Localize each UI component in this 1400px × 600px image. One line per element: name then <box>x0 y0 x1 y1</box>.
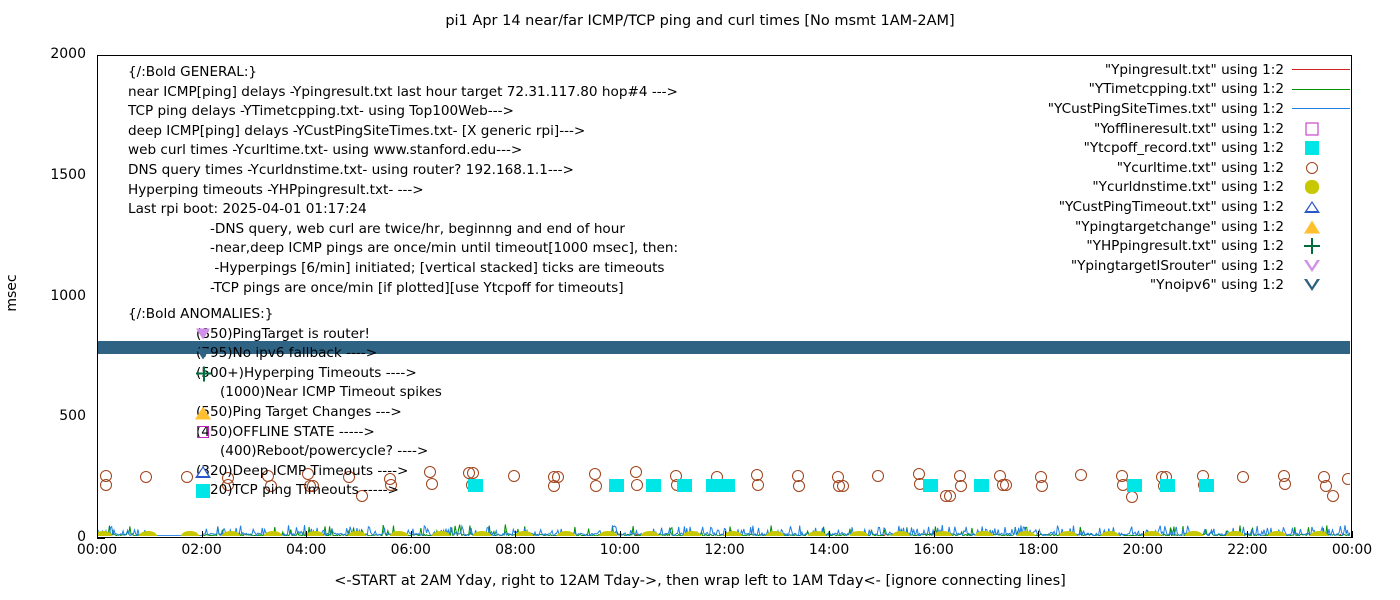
curl-time-marker <box>793 480 805 492</box>
legend-label: "Ypingtargetchange" using 1:2 <box>1075 219 1284 235</box>
x-tick-mark <box>1143 531 1144 538</box>
curl-time-marker <box>752 479 764 491</box>
annotation-line: -near,deep ICMP pings are once/min until… <box>128 239 678 259</box>
legend-key <box>1290 138 1352 158</box>
curl-time-marker <box>1342 473 1350 485</box>
x-tick-label: 10:00 <box>575 542 665 558</box>
legend-label: "Ytcpoff_record.txt" using 1:2 <box>1084 140 1284 156</box>
circ-brown-icon <box>1306 162 1318 174</box>
y-tick-label: 2000 <box>18 46 86 62</box>
legend-entry[interactable]: "YCustPingSiteTimes.txt" using 1:2 <box>960 99 1352 119</box>
x-tick-label: 04:00 <box>261 542 351 558</box>
legend-entry[interactable]: "Ycurltime.txt" using 1:2 <box>960 158 1352 178</box>
anomaly-text: (320)Deep ICMP Timeouts ----> <box>196 463 408 479</box>
y-tick-mark <box>97 538 105 539</box>
legend-label: "Yofflineresult.txt" using 1:2 <box>1094 121 1284 137</box>
y-tick-label: 1500 <box>18 167 86 183</box>
y-tick-label: 500 <box>18 408 86 424</box>
tcp-timeout-marker <box>974 479 989 492</box>
x-tick-label: 22:00 <box>1202 542 1292 558</box>
annotation-line: near ICMP[ping] delays -Ypingresult.txt … <box>128 83 678 103</box>
anomaly-line: (400)Reboot/powercycle? ----> <box>128 442 442 462</box>
legend-key <box>1290 80 1352 100</box>
legend-label: "YCustPingSiteTimes.txt" using 1:2 <box>1048 101 1284 117</box>
curl-time-marker <box>589 468 601 480</box>
annotation-anomalies: {/:Bold ANOMALIES:}(850)PingTarget is ro… <box>128 305 442 501</box>
legend-entry[interactable]: "Ypingtargetchange" using 1:2 <box>960 217 1352 237</box>
dtri-violet-icon <box>1304 260 1320 272</box>
legend-label: "Ypingresult.txt" using 1:2 <box>1105 62 1284 78</box>
dtri-violet-icon <box>196 329 210 340</box>
legend-key <box>1290 119 1352 139</box>
anomaly-text: (795)No ipv6 fallback ----> <box>196 345 377 361</box>
annotation-line: TCP ping delays -YTimetcpping.txt- using… <box>128 102 678 122</box>
dtri-teal-icon <box>196 348 210 359</box>
curl-time-marker <box>1036 480 1048 492</box>
legend-line-sample <box>1292 89 1350 90</box>
x-tick-label: 12:00 <box>680 542 770 558</box>
legend-entry[interactable]: "Ycurldnstime.txt" using 1:2 <box>960 178 1352 198</box>
plus-icon <box>1304 238 1320 254</box>
chart-title: pi1 Apr 14 near/far ICMP/TCP ping and cu… <box>0 13 1400 29</box>
legend-key <box>1290 197 1352 217</box>
dtri-teal-icon <box>1304 279 1320 291</box>
anomaly-line: (500+)Hyperping Timeouts ----> <box>128 364 442 384</box>
legend-label: "Ynoipv6" using 1:2 <box>1150 277 1284 293</box>
curl-time-marker <box>630 466 642 478</box>
curl-time-marker <box>872 470 884 482</box>
anomaly-text: (1000)Near ICMP Timeout spikes <box>220 384 442 400</box>
annotation-line: web curl times -Ycurltime.txt- using www… <box>128 141 678 161</box>
tcp-timeout-marker <box>609 479 624 492</box>
x-tick-label: 00:00 <box>52 542 142 558</box>
annotation-general-heading: {/:Bold GENERAL:} <box>128 63 678 83</box>
legend-entry[interactable]: "YCustPingTimeout.txt" using 1:2 <box>960 197 1352 217</box>
disc-olive-icon <box>1305 180 1319 194</box>
x-tick-mark <box>515 531 516 538</box>
anomaly-text: (450)OFFLINE STATE -----> <box>196 424 375 440</box>
annotation-line: deep ICMP[ping] delays -YCustPingSiteTim… <box>128 122 678 142</box>
x-tick-mark <box>934 531 935 538</box>
anomaly-line: (795)No ipv6 fallback ----> <box>128 344 442 364</box>
legend-label: "YCustPingTimeout.txt" using 1:2 <box>1059 199 1284 215</box>
x-axis-caption: <-START at 2AM Yday, right to 12AM Tday-… <box>0 573 1400 589</box>
curl-time-marker <box>508 470 520 482</box>
anomaly-text: (550)Ping Target Changes ---> <box>196 404 402 420</box>
sq-cyan-icon <box>196 484 210 498</box>
tcp-timeout-marker <box>1160 479 1175 492</box>
legend-entry[interactable]: "YHPpingresult.txt" using 1:2 <box>960 236 1352 256</box>
legend-key <box>1290 158 1352 178</box>
x-tick-label: 06:00 <box>366 542 456 558</box>
legend-entry[interactable]: "Yofflineresult.txt" using 1:2 <box>960 119 1352 139</box>
x-tick-mark <box>97 531 98 538</box>
x-tick-mark <box>1247 531 1248 538</box>
anomaly-text: (400)Reboot/powercycle? ----> <box>220 443 428 459</box>
legend: "Ypingresult.txt" using 1:2"YTimetcpping… <box>960 60 1352 295</box>
x-tick-mark <box>829 531 830 538</box>
curl-time-marker <box>631 479 643 491</box>
x-tick-mark <box>1038 531 1039 538</box>
tcp-timeout-marker <box>1127 479 1142 492</box>
x-tick-label: 18:00 <box>993 542 1083 558</box>
tcp-timeout-marker <box>646 479 661 492</box>
sq-cyan-icon <box>1305 141 1319 155</box>
utri-gold-icon <box>195 406 211 419</box>
annotation-line: Hyperping timeouts -YHPpingresult.txt- -… <box>128 181 678 201</box>
sq-magenta-icon <box>1306 122 1319 135</box>
curl-time-marker <box>548 480 560 492</box>
x-tick-label: 00:00 <box>1307 542 1397 558</box>
legend-key <box>1290 60 1352 80</box>
legend-key <box>1290 236 1352 256</box>
x-tick-label: 08:00 <box>470 542 560 558</box>
x-tick-mark <box>725 531 726 538</box>
annotation-anomalies-heading: {/:Bold ANOMALIES:} <box>128 305 442 325</box>
legend-entry[interactable]: "Ytcpoff_record.txt" using 1:2 <box>960 138 1352 158</box>
tcp-timeout-marker <box>923 479 938 492</box>
legend-label: "YTimetcpping.txt" using 1:2 <box>1089 81 1284 97</box>
x-tick-mark <box>306 531 307 538</box>
legend-key <box>1290 99 1352 119</box>
tcp-timeout-marker <box>677 479 692 492</box>
plus-icon <box>196 366 211 381</box>
x-tick-label: 20:00 <box>1098 542 1188 558</box>
annotation-line: DNS query times -Ycurldnstime.txt- using… <box>128 161 678 181</box>
anomaly-line: (220)TCP ping Timeouts -----> <box>128 481 442 501</box>
sq-magenta-icon <box>197 426 209 438</box>
x-tick-label: 02:00 <box>157 542 247 558</box>
legend-entry[interactable]: "Ynoipv6" using 1:2 <box>960 276 1352 296</box>
legend-key <box>1290 217 1352 237</box>
anomaly-line: (550)Ping Target Changes ---> <box>128 403 442 423</box>
legend-key <box>1290 276 1352 296</box>
legend-line-sample <box>1292 108 1350 109</box>
legend-label: "Ycurldnstime.txt" using 1:2 <box>1092 179 1284 195</box>
x-tick-label: 16:00 <box>889 542 979 558</box>
x-tick-mark <box>1352 531 1353 538</box>
x-tick-label: 14:00 <box>784 542 874 558</box>
annotation-line: -TCP pings are once/min [if plotted][use… <box>128 279 678 299</box>
tcp-timeout-marker <box>1199 479 1214 492</box>
anomaly-line: (320)Deep ICMP Timeouts ----> <box>128 462 442 482</box>
legend-key <box>1290 178 1352 198</box>
annotation-general: {/:Bold GENERAL:}near ICMP[ping] delays … <box>128 63 678 298</box>
legend-entry[interactable]: "Ypingresult.txt" using 1:2 <box>960 60 1352 80</box>
anomaly-text: (850)PingTarget is router! <box>196 326 370 342</box>
anomaly-text: (500+)Hyperping Timeouts ----> <box>196 365 417 381</box>
annotation-line: -DNS query, web curl are twice/hr, begin… <box>128 220 678 240</box>
x-tick-mark <box>411 531 412 538</box>
utri-blue-icon <box>1304 201 1320 213</box>
anomaly-line: (1000)Near ICMP Timeout spikes <box>128 383 442 403</box>
annotation-line: -Hyperpings [6/min] initiated; [vertical… <box>128 259 678 279</box>
anomaly-line: (450)OFFLINE STATE -----> <box>128 423 442 443</box>
curl-time-marker <box>837 480 849 492</box>
annotation-line: Last rpi boot: 2025-04-01 01:17:24 <box>128 200 678 220</box>
legend-key <box>1290 256 1352 276</box>
legend-entry[interactable]: "YTimetcpping.txt" using 1:2 <box>960 80 1352 100</box>
anomaly-line: (850)PingTarget is router! <box>128 325 442 345</box>
tcp-timeout-marker <box>468 479 483 492</box>
legend-entry[interactable]: "YpingtargetISrouter" using 1:2 <box>960 256 1352 276</box>
utri-blue-icon <box>195 466 211 478</box>
tcp-timeout-marker <box>720 479 735 492</box>
legend-label: "YHPpingresult.txt" using 1:2 <box>1086 238 1284 254</box>
utri-gold-icon <box>1304 220 1320 233</box>
y-tick-label: 1000 <box>18 288 86 304</box>
legend-line-sample <box>1292 69 1350 70</box>
x-tick-mark <box>202 531 203 538</box>
anomaly-text: (220)TCP ping Timeouts -----> <box>196 482 399 498</box>
legend-label: "YpingtargetISrouter" using 1:2 <box>1071 258 1284 274</box>
x-tick-mark <box>620 531 621 538</box>
legend-label: "Ycurltime.txt" using 1:2 <box>1117 160 1284 176</box>
